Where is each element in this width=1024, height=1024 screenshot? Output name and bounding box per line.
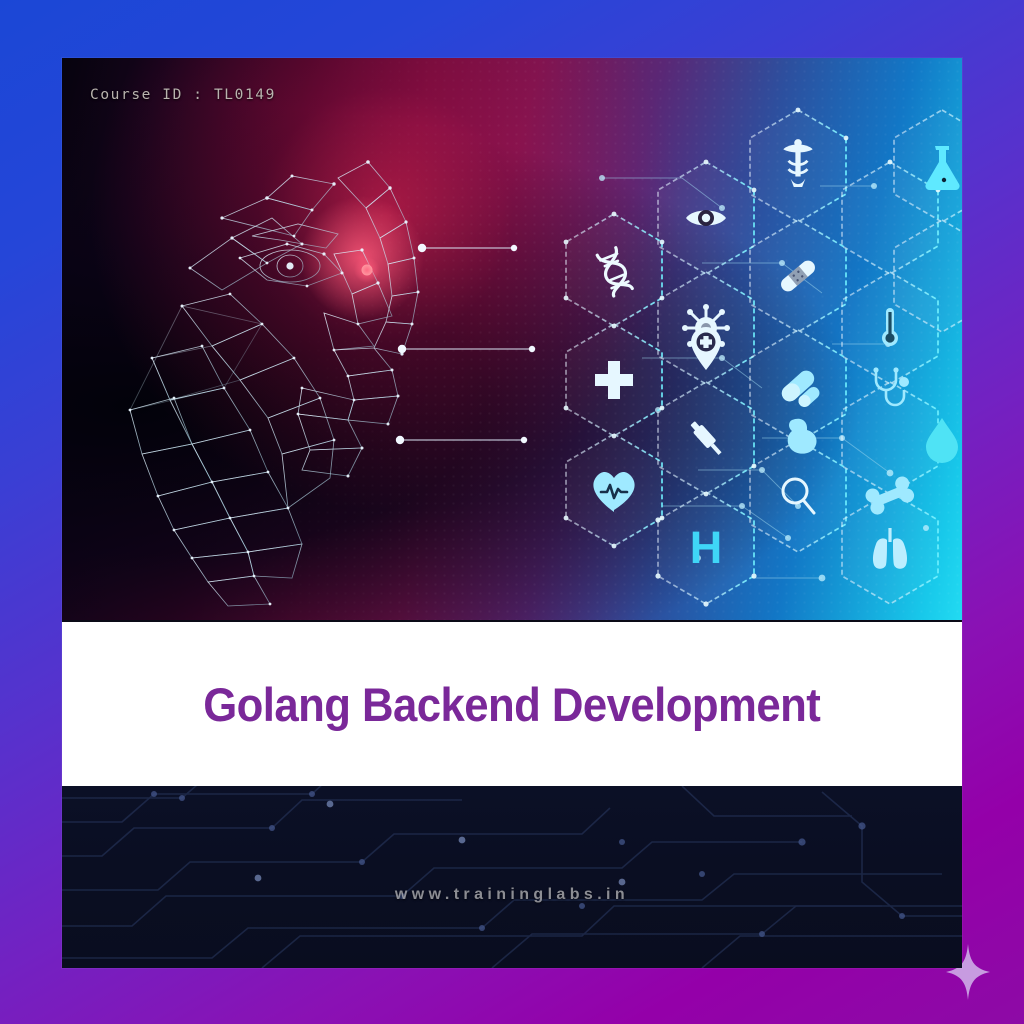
- course-title: Golang Backend Development: [203, 677, 820, 732]
- hospital-h-icon: H: [690, 522, 723, 573]
- site-url: www.traininglabs.in: [62, 886, 962, 904]
- course-id-label: Course ID : TL0149: [90, 87, 276, 103]
- svg-text:H: H: [690, 522, 723, 573]
- circuit-pattern: [62, 786, 962, 968]
- hero-image: H Course ID : TL0149: [62, 58, 962, 620]
- title-band: Golang Backend Development: [62, 622, 962, 786]
- course-card: H Course ID : TL0149 Golang Backend Deve…: [62, 58, 962, 968]
- hexagon-icon-grid: H: [62, 58, 962, 620]
- card-footer: www.traininglabs.in: [62, 786, 962, 968]
